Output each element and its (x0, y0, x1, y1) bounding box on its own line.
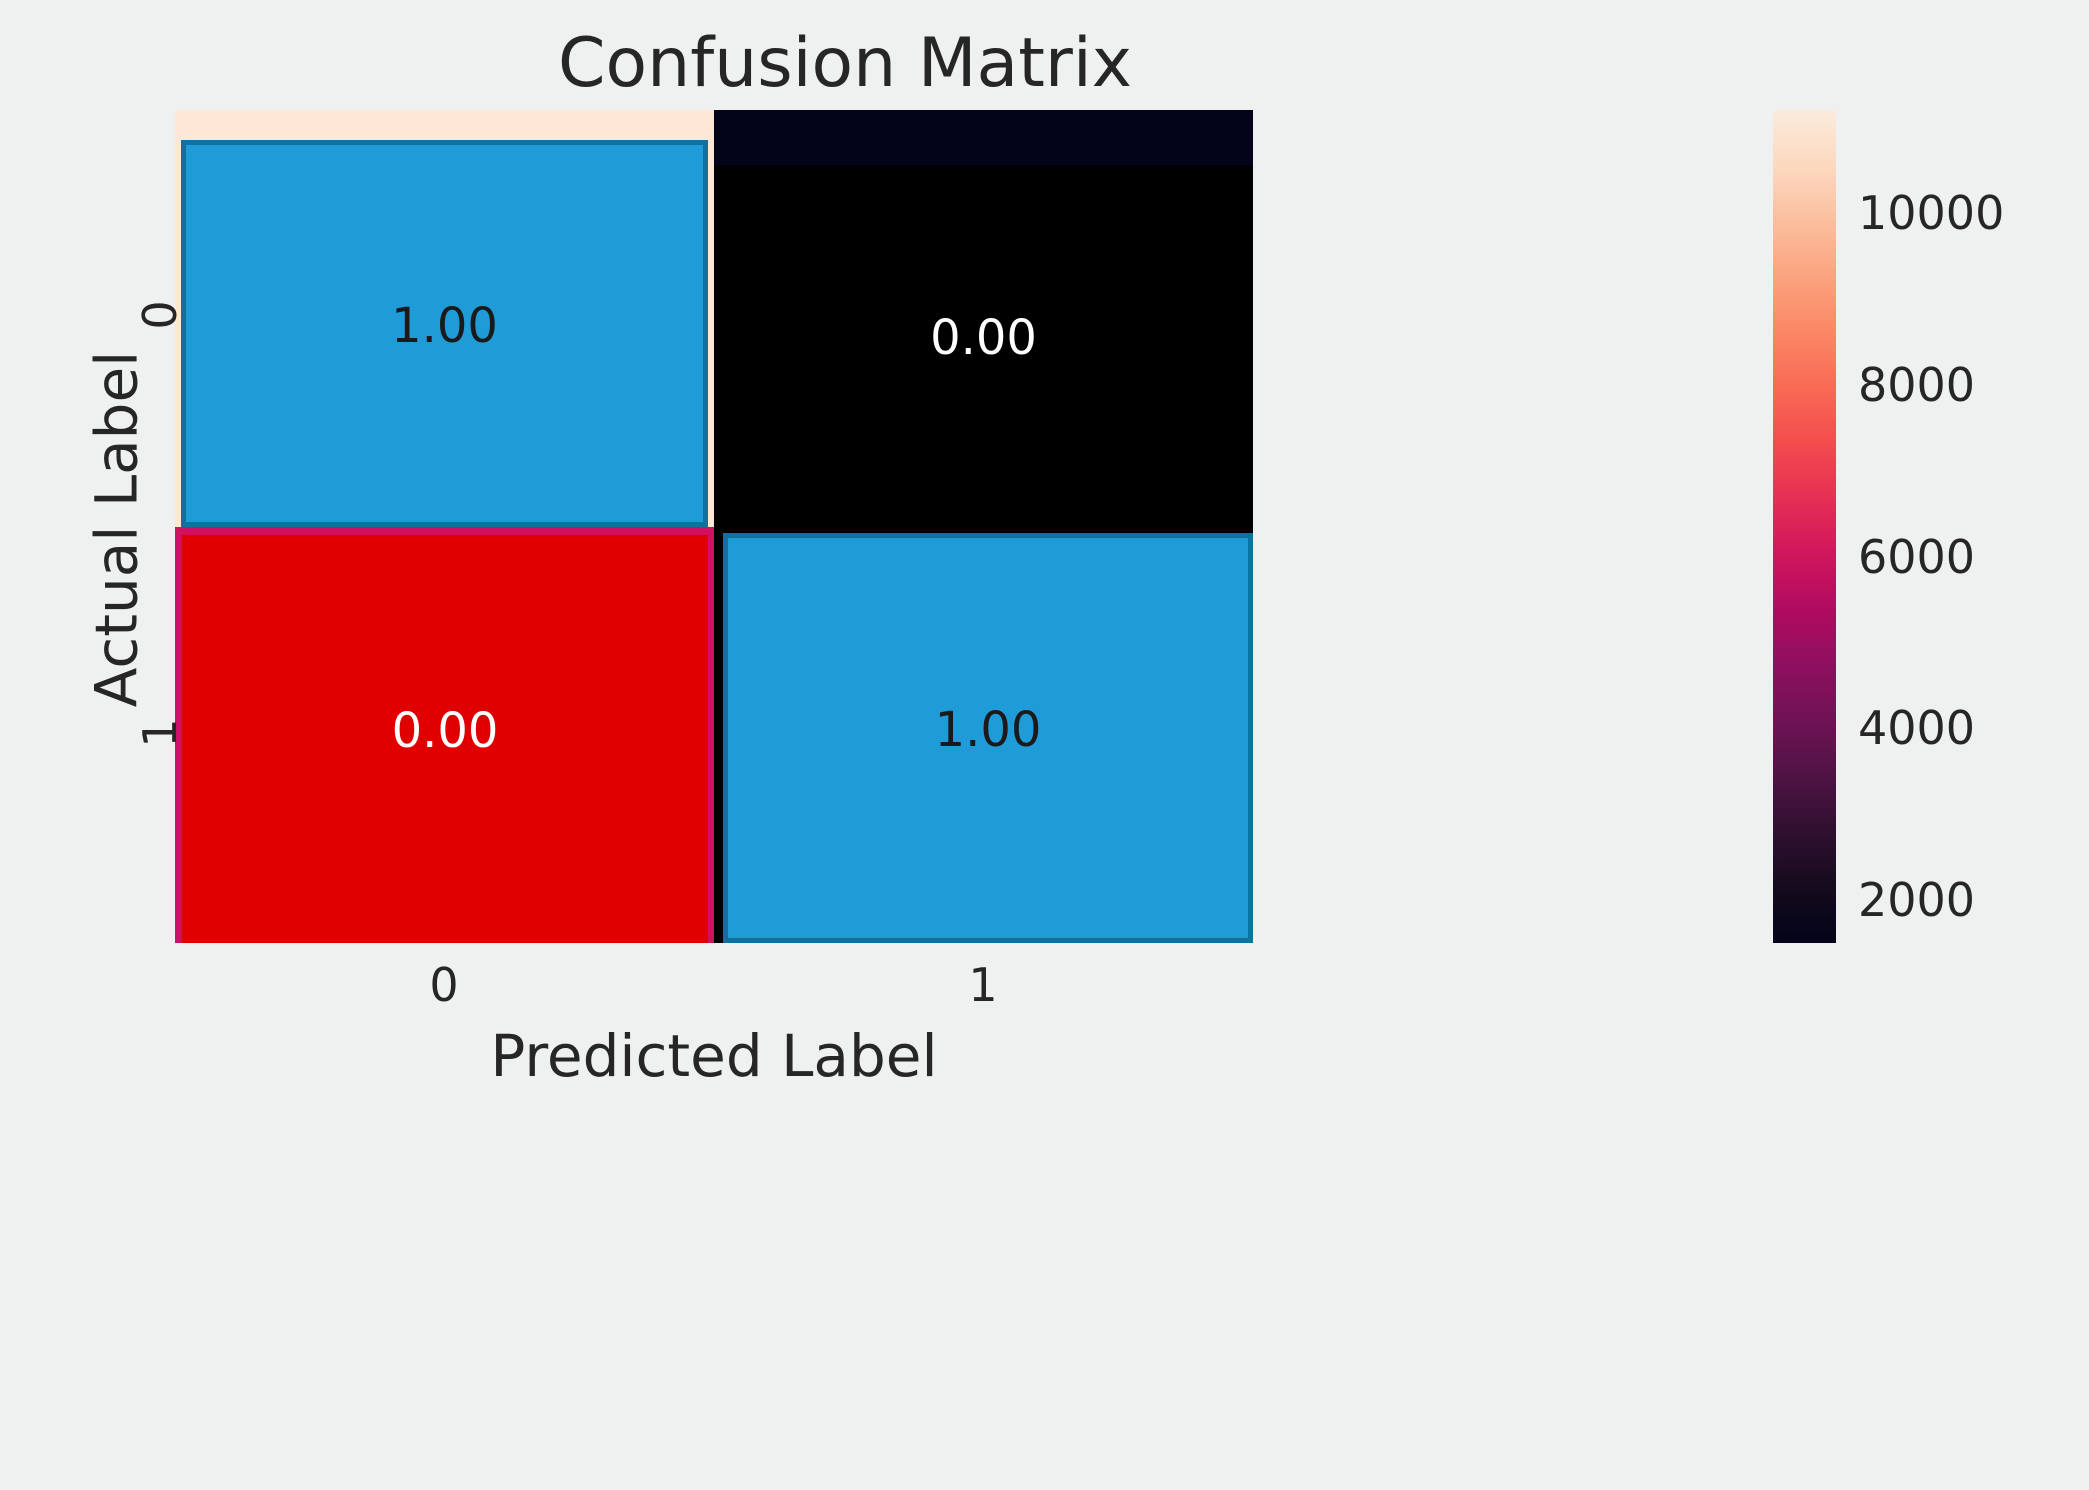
colorbar-gradient (1773, 110, 1836, 943)
heatmap-cell-value-0-1: 0.00 (930, 314, 1037, 362)
heatmap-cell-overlay-0-0: 1.00 (181, 140, 708, 527)
x-tick-label-0: 0 (384, 958, 504, 1012)
heatmap-cell-value-0-0: 1.00 (391, 302, 498, 350)
colorbar-tick-label-8000: 8000 (1858, 358, 1975, 412)
heatmap-cell-0-1[interactable]: 0.00 (714, 110, 1253, 527)
heatmap-cell-1-1[interactable]: 1.00 (714, 527, 1253, 943)
x-tick-label-1: 1 (923, 958, 1043, 1012)
heatmap-cell-value-1-0: 0.00 (392, 707, 499, 755)
heatmap-cell-overlay-1-1: 1.00 (723, 533, 1253, 943)
heatmap-axes: 1.00 0.00 0.00 1.00 (175, 110, 1253, 943)
x-axis-label: Predicted Label (175, 1022, 1253, 1090)
heatmap-cell-value-1-1: 1.00 (935, 706, 1042, 754)
page-title: Confusion Matrix (0, 24, 1690, 103)
colorbar-tick-label-2000: 2000 (1858, 873, 1975, 927)
heatmap-cell-1-0[interactable]: 0.00 (175, 527, 714, 943)
colorbar-tick-label-10000: 10000 (1858, 186, 2004, 240)
figure-canvas: Confusion Matrix 1.00 0.00 0.00 1.00 0 1… (0, 0, 2089, 1490)
colorbar-tick-label-4000: 4000 (1858, 701, 1975, 755)
heatmap-cell-overlay-0-1: 0.00 (714, 165, 1253, 527)
colorbar-tick-label-6000: 6000 (1858, 530, 1975, 584)
heatmap-cell-overlay-1-0: 0.00 (182, 535, 708, 943)
y-axis-label: Actual Label (83, 113, 151, 946)
heatmap-cell-0-0[interactable]: 1.00 (175, 110, 714, 527)
colorbar (1773, 110, 1836, 943)
